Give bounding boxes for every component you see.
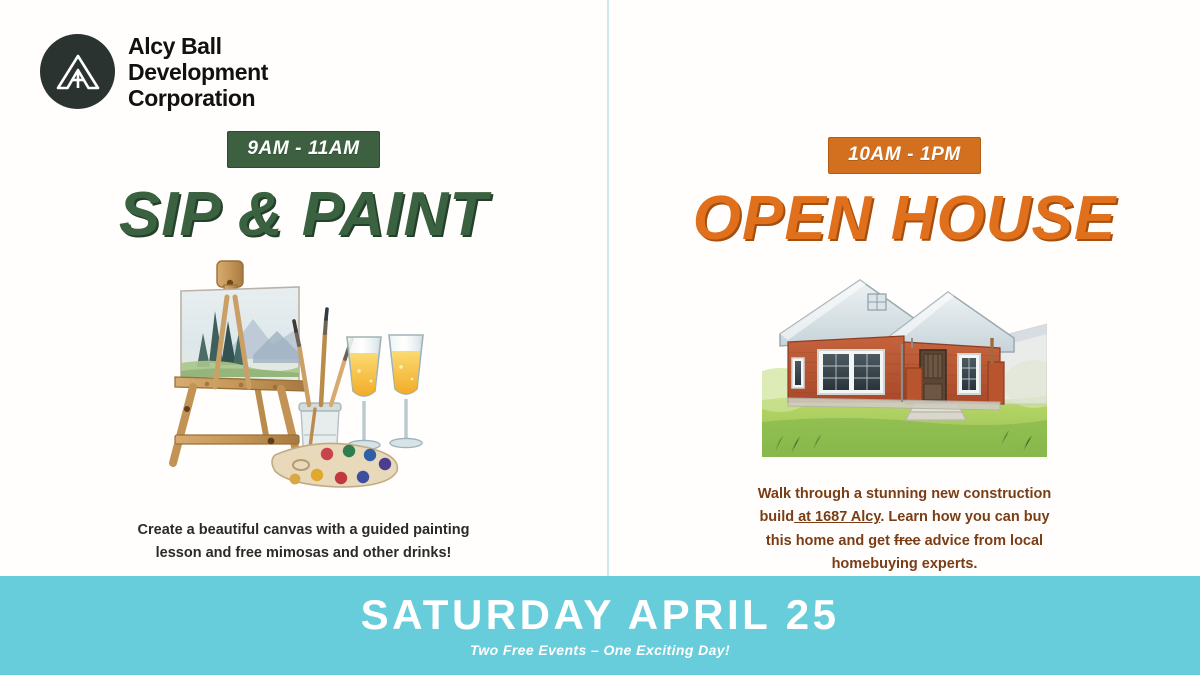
event-panel-sip-and-paint: 9AM - 11AM SIP & PAINT [0, 0, 607, 576]
event-description-open-house: Walk through a stunning new construction… [755, 483, 1055, 577]
brick-bungalow-house-icon [762, 272, 1047, 457]
easel-paint-palette-mimosa-glasses-icon [149, 259, 459, 489]
page-title-sip-and-paint: SIP & PAINT [119, 184, 488, 246]
banner-subtitle: Two Free Events – One Exciting Day! [470, 643, 730, 657]
desc-part-address-link[interactable]: at 1687 Alcy [794, 509, 880, 525]
desc-part-strikethrough: free [894, 533, 921, 549]
page-title-open-house: OPEN HOUSE [693, 188, 1116, 250]
event-flyer: Alcy Ball Development Corporation 9AM - … [0, 0, 1200, 675]
banner-date: SATURDAY APRIL 25 [361, 594, 840, 636]
event-panel-open-house: 10AM - 1PM OPEN HOUSE [609, 0, 1200, 576]
status-badge-time-open-house: 10AM - 1PM [828, 137, 981, 174]
date-banner: SATURDAY APRIL 25 Two Free Events – One … [0, 576, 1200, 675]
status-badge-time-sip-and-paint: 9AM - 11AM [227, 131, 379, 168]
event-description-sip-and-paint: Create a beautiful canvas with a guided … [124, 519, 484, 566]
